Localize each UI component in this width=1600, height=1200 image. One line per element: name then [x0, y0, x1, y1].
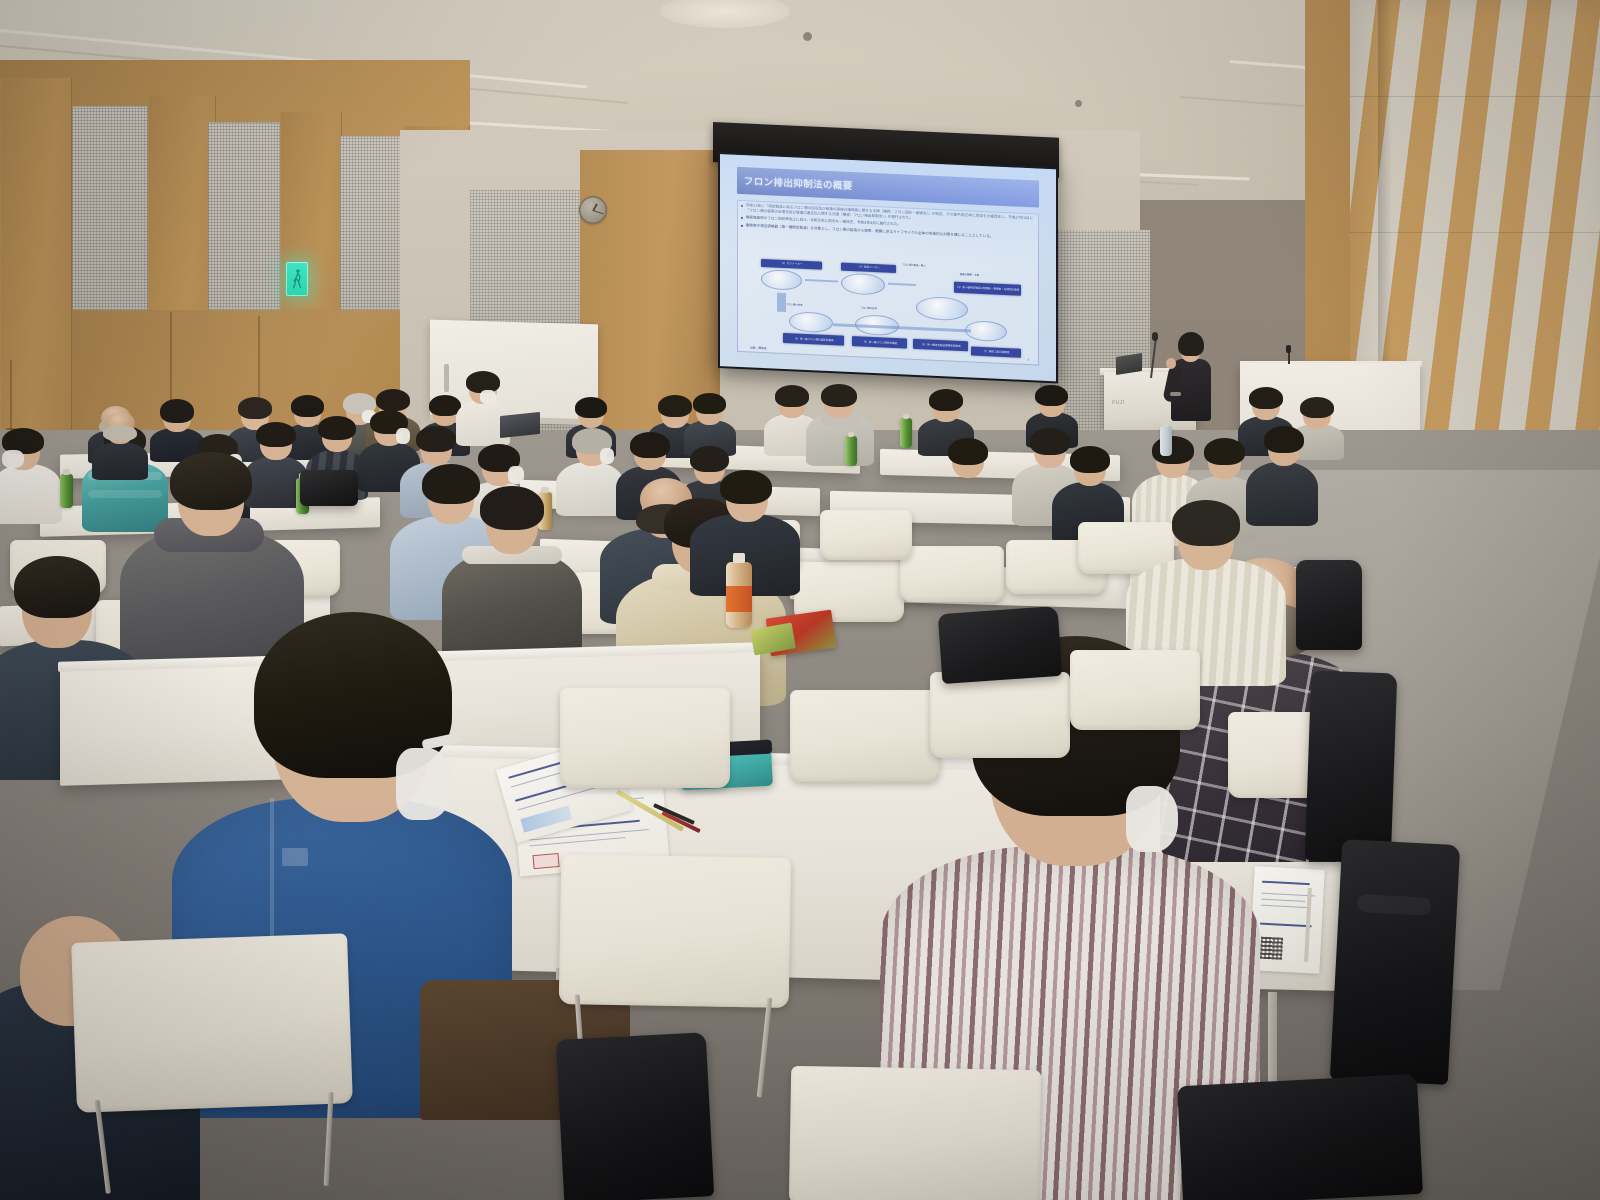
ceiling-speaker-icon [803, 32, 812, 41]
chair[interactable] [930, 672, 1070, 758]
backpack [1330, 839, 1460, 1085]
diagram-label: 機器の整備・点検 [960, 273, 1021, 279]
projection-screen[interactable]: フロン排出抑制法の概要 ■ 平成13年に「特定製品に係るフロン類の回収及び破壊の… [718, 152, 1058, 383]
qr-code [1260, 937, 1283, 960]
diagram-box: （6）第一種特定製品廃棄等実施者 [913, 339, 968, 351]
diagram-box: （1）ガスメーカー [761, 259, 822, 270]
diagram-node-circle [916, 296, 969, 322]
green-tea-bottle[interactable] [845, 436, 857, 466]
handout-stamp [532, 853, 559, 869]
slide-source-note: 出典：環境省 [750, 345, 767, 350]
diagram-arrow [805, 279, 838, 283]
chair[interactable] [71, 933, 353, 1113]
bullet-marker-icon: ■ [741, 215, 743, 221]
bullet-marker-icon: ■ [741, 223, 743, 229]
diagram-node-circle [841, 273, 885, 296]
attendee [806, 386, 874, 464]
presenter-hair [1178, 332, 1204, 356]
diagram-box: （4）第一種フロン類充填回収業者 [783, 333, 844, 346]
diagram-label: フロン類の回収 [860, 307, 910, 312]
attendee [930, 440, 1002, 532]
jacket-logo [282, 848, 308, 866]
diagram-node-circle [789, 311, 833, 334]
exit-sign [286, 262, 308, 296]
bullet-marker-icon: ■ [741, 203, 743, 214]
chair[interactable] [559, 854, 792, 1008]
green-tea-bottle[interactable] [60, 474, 73, 508]
diagram-arrow [905, 327, 971, 332]
diagram-box: （5）第一種フロン類再生業者 [852, 336, 907, 348]
whiteboard-marker[interactable] [444, 364, 449, 392]
acoustic-panel [340, 136, 404, 322]
handout[interactable] [1249, 866, 1324, 974]
laptop[interactable] [500, 412, 540, 438]
green-tea-bottle[interactable] [900, 418, 912, 448]
attendee [0, 428, 62, 520]
backpack [1296, 560, 1362, 650]
ceiling-sensor-icon [1075, 100, 1082, 107]
diagram-box: （7）解体工事元請業者 [971, 346, 1021, 357]
diagram-node-circle [965, 321, 1006, 343]
jacket-on-table [938, 606, 1063, 684]
chair[interactable] [1070, 650, 1200, 730]
presenter [1168, 332, 1212, 424]
backpack [556, 1032, 714, 1200]
wall-clock [579, 196, 607, 224]
diagram-label: フロン類の製造・輸入 [902, 264, 957, 270]
diagram-arrow [888, 283, 916, 287]
slide: フロン排出抑制法の概要 ■ 平成13年に「特定製品に係るフロン類の回収及び破壊の… [720, 154, 1056, 381]
chair[interactable] [790, 690, 940, 782]
attendee [684, 394, 736, 452]
seminar-room-photo: フロン排出抑制法の概要 ■ 平成13年に「特定製品に係るフロン類の回収及び破壊の… [0, 0, 1600, 1200]
diagram-box: （3）第一種特定製品の管理者・整備者・充填回収業者 [954, 281, 1020, 296]
chair[interactable] [789, 1066, 1041, 1200]
diagram-box: （2）製品メーカー [841, 263, 896, 274]
orange-tea-bottle[interactable] [726, 562, 752, 628]
diagram-arrow [777, 292, 785, 312]
chair[interactable] [820, 510, 912, 560]
podium-label: FUJI [1112, 400, 1152, 406]
chair[interactable] [560, 688, 730, 788]
acoustic-panel [72, 106, 148, 316]
ceiling-light [660, 0, 790, 28]
water-bottle[interactable] [1160, 426, 1172, 456]
chair[interactable] [900, 546, 1004, 602]
running-person-icon [292, 268, 302, 290]
acoustic-panel [208, 122, 280, 322]
slide-title: フロン排出抑制法の概要 [737, 173, 853, 192]
presenter-hand [1166, 358, 1176, 369]
desk-microphone-icon [1286, 345, 1291, 353]
slide-diagram: （1）ガスメーカー （2）製品メーカー （3）第一種特定製品の管理者・整備者・充… [750, 257, 1026, 360]
slide-body: ■ 平成13年に「特定製品に係るフロン類の回収及び破壊の実施の確保等に関する法律… [737, 199, 1039, 365]
slide-page-number: 7 [1027, 358, 1029, 362]
presenter-watch [1170, 392, 1181, 396]
bag [300, 470, 358, 506]
diagram-node-circle [761, 269, 802, 291]
diagram-label: フロン類の充填 [786, 303, 836, 308]
coat-on-floor [1177, 1074, 1423, 1200]
backpack [1305, 671, 1398, 864]
microphone-icon [1152, 332, 1158, 341]
